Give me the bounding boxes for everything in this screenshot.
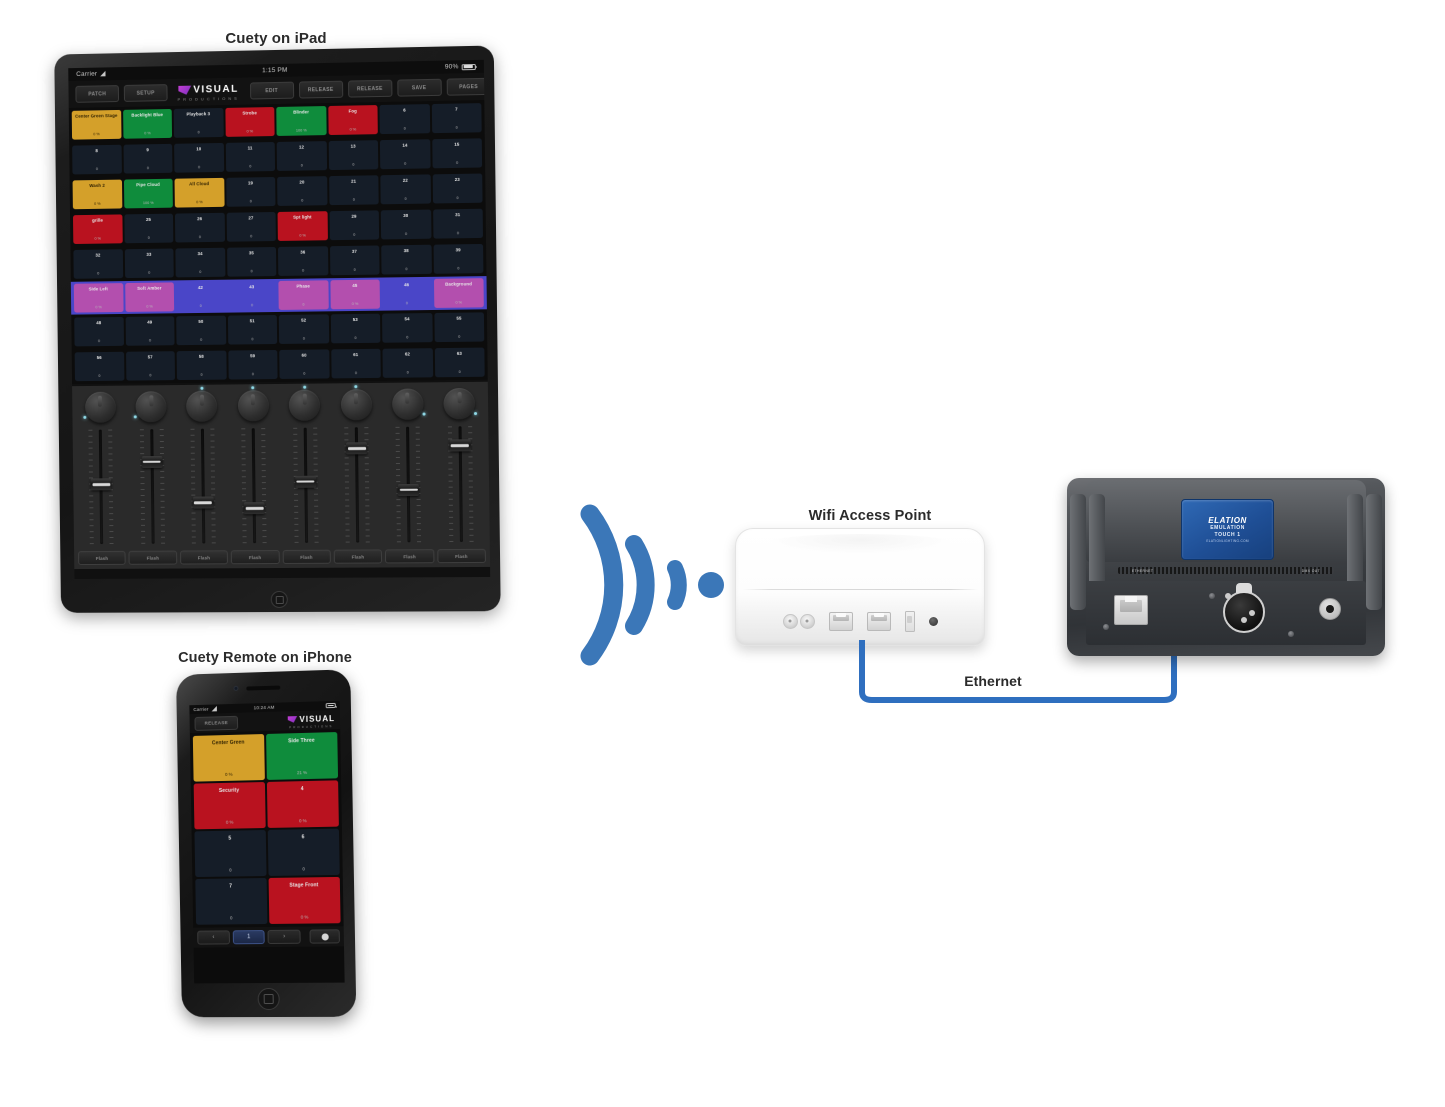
cue-button[interactable]: 290 — [329, 210, 379, 240]
release-button-1[interactable]: RELEASE — [299, 81, 343, 99]
elation-brand-name: ELATION — [1208, 516, 1247, 525]
cue-button[interactable]: 520 — [279, 314, 329, 344]
cue-button[interactable]: 250 — [124, 214, 173, 244]
cue-value: 0 — [353, 234, 355, 238]
cue-label: 63 — [435, 351, 483, 357]
next-page-button[interactable]: › — [268, 930, 301, 944]
cue-button[interactable]: 580 — [177, 351, 227, 380]
cue-label: 13 — [329, 143, 377, 149]
wifi-signal-icon — [572, 500, 732, 670]
cue-button[interactable]: 190 — [226, 177, 276, 207]
cue-button[interactable]: 500 — [176, 316, 226, 346]
cue-label: Playback 3 — [175, 111, 222, 117]
elation-model-number: 1 — [1237, 532, 1240, 538]
cue-label: 58 — [178, 354, 225, 360]
cue-label: 6 — [381, 107, 429, 113]
cue-value: 0 — [250, 201, 252, 205]
fader-channel: Flash — [127, 391, 177, 565]
iphone-clock: 10:24 AM — [240, 704, 288, 710]
cue-button[interactable]: Pipe Cloud100 % — [123, 179, 172, 209]
cue-label: 14 — [381, 142, 429, 148]
fader-handle[interactable] — [193, 497, 214, 509]
cue-label: 48 — [75, 320, 122, 326]
cue-label: 52 — [280, 317, 328, 323]
ipad-battery-percent: 90% — [445, 63, 459, 70]
ipad-caption: Cuety on iPad — [56, 30, 496, 47]
release-button[interactable]: RELEASE — [194, 715, 238, 730]
cue-button[interactable]: 200 — [277, 176, 327, 206]
channel-fader[interactable] — [137, 427, 166, 546]
cue-button[interactable]: 70 — [431, 103, 481, 133]
cue-button[interactable]: 460 — [382, 279, 432, 309]
cue-button[interactable]: 120 — [277, 141, 327, 171]
cue-label: 49 — [126, 319, 173, 325]
cue-label: 15 — [433, 141, 481, 147]
cue-value: 0 % — [352, 303, 359, 307]
channel-fader[interactable] — [240, 426, 269, 545]
usb-port[interactable] — [905, 611, 915, 632]
fader-scale — [190, 429, 215, 544]
cue-label: 9 — [124, 147, 171, 153]
cue-button[interactable]: 540 — [382, 313, 432, 343]
cue-button[interactable]: Background0 % — [433, 278, 483, 308]
cue-label: Blinder — [277, 109, 325, 115]
cue-button[interactable]: Phase0 — [278, 280, 328, 310]
cue-label: 32 — [74, 252, 121, 258]
cue-button[interactable]: 260 — [175, 213, 225, 243]
setup-button[interactable]: SETUP — [124, 84, 168, 102]
fader-channel: Flash — [332, 389, 383, 564]
cue-button[interactable]: 300 — [381, 210, 431, 240]
cue-button[interactable]: 360 — [278, 246, 328, 276]
cue-label: 34 — [176, 251, 223, 257]
channel-fader[interactable] — [87, 428, 116, 547]
flash-button[interactable]: Flash — [334, 549, 383, 563]
gear-icon — [321, 933, 328, 940]
cue-label: Phase — [279, 283, 327, 289]
cue-value: 0 — [98, 340, 100, 344]
channel-fader[interactable] — [342, 425, 372, 545]
cue-button[interactable]: 310 — [433, 209, 483, 239]
rotary-knob[interactable] — [289, 390, 320, 421]
rotary-knob[interactable] — [238, 390, 269, 421]
iphone-home-button[interactable] — [257, 988, 279, 1010]
cue-button[interactable]: 130 — [328, 140, 378, 170]
xlr-dmx-output[interactable] — [1223, 591, 1265, 633]
flash-button[interactable]: Flash — [231, 550, 279, 564]
cue-value: 0 % — [196, 201, 203, 205]
cue-label: Center Green Stage — [73, 113, 120, 119]
led-indicator-icon — [474, 412, 477, 415]
cue-label: 55 — [435, 315, 483, 321]
cue-button[interactable]: All Cloud0 % — [175, 178, 225, 208]
iphone-page-nav: ‹ 1 › — [193, 926, 344, 947]
cue-button[interactable]: 330 — [124, 249, 173, 279]
cue-button[interactable]: Soft Amber0 % — [125, 282, 174, 312]
cue-button[interactable]: Center Green Stage0 % — [72, 110, 121, 140]
cue-value: 0 — [404, 198, 406, 202]
battery-icon — [326, 703, 336, 708]
power-icon — [783, 614, 815, 629]
channel-fader[interactable] — [446, 424, 476, 544]
cue-value: 0 — [457, 268, 459, 272]
cue-grid: Center Green Stage0 %Backlight Blue0 %Pl… — [69, 100, 488, 384]
cue-row: 560570580590600610620630 — [72, 345, 488, 385]
cue-label: 5 — [197, 835, 264, 842]
flash-button[interactable]: Flash — [437, 549, 486, 563]
led-indicator-icon — [354, 385, 357, 388]
fader-handle[interactable] — [295, 475, 316, 487]
settings-button[interactable] — [310, 929, 340, 943]
cue-value: 0 % — [299, 235, 306, 239]
iphone-caption: Cuety Remote on iPhone — [150, 650, 380, 666]
cue-button[interactable]: 230 — [432, 174, 482, 204]
cue-button[interactable]: Side Three21 % — [266, 732, 338, 780]
cue-value: 0 — [149, 340, 151, 344]
cue-button[interactable]: 320 — [73, 249, 122, 279]
cue-value: 0 — [200, 339, 202, 343]
fader-handle[interactable] — [346, 442, 367, 454]
cue-button[interactable]: 350 — [227, 247, 277, 277]
cue-button[interactable]: 370 — [330, 245, 380, 275]
cue-value: 0 — [456, 127, 458, 131]
cue-value: 0 — [354, 337, 356, 341]
cue-label: 12 — [278, 144, 326, 150]
cue-button[interactable]: grille0 % — [73, 214, 122, 244]
cue-label: 11 — [226, 145, 273, 151]
cue-label: 54 — [383, 316, 431, 322]
cue-label: Wash 2 — [74, 183, 121, 189]
cue-label: 61 — [332, 352, 380, 358]
cue-button[interactable]: 50 — [194, 830, 266, 877]
elation-rear-panel — [1086, 581, 1366, 645]
cue-value: 0 — [200, 305, 202, 309]
cue-value: 0 % — [144, 132, 151, 136]
visual-productions-logo: VISUAL PRODUCTIONS — [177, 84, 239, 102]
cue-button[interactable]: 390 — [433, 244, 483, 274]
cue-label: 7 — [432, 106, 480, 112]
cue-value: 0 — [303, 373, 305, 377]
cue-label: Background — [435, 281, 483, 287]
ipad-home-button[interactable] — [271, 591, 288, 608]
cue-button[interactable]: Fog0 % — [328, 105, 378, 135]
cue-value: 0 — [197, 132, 199, 136]
cue-value: 0 % — [301, 915, 309, 920]
edit-button[interactable]: EDIT — [250, 82, 294, 100]
panel-screw — [1103, 624, 1109, 630]
cue-label: 31 — [434, 212, 482, 218]
cue-value: 0 % — [95, 306, 102, 310]
cue-row: 480490500510520530540550 — [71, 309, 487, 349]
cue-button[interactable]: 210 — [329, 175, 379, 205]
ipad-clock: 1:15 PM — [208, 66, 341, 76]
cue-value: 0 — [456, 197, 458, 201]
elation-website: ELATIONLIGHTING.COM — [1206, 539, 1248, 543]
cue-button[interactable]: 530 — [330, 314, 380, 344]
cue-value: 0 — [354, 269, 356, 273]
cue-label: Security — [196, 787, 263, 795]
cue-button[interactable]: 630 — [434, 348, 484, 378]
fader-handle[interactable] — [244, 502, 265, 514]
cue-button[interactable]: 270 — [226, 212, 276, 242]
battery-icon — [462, 63, 476, 69]
flash-button[interactable]: Flash — [282, 550, 331, 564]
cue-value: 0 — [404, 163, 406, 167]
flash-button[interactable]: Flash — [129, 551, 177, 565]
cue-button[interactable]: 590 — [228, 350, 278, 380]
rotary-knob[interactable] — [444, 388, 476, 419]
dc-power-jack[interactable] — [1319, 598, 1341, 620]
cue-label: 59 — [229, 353, 276, 359]
cue-value: 0 % — [350, 129, 357, 133]
wifi-access-point-device — [735, 528, 985, 646]
cue-value: 0 % — [225, 772, 233, 777]
iphone-screen[interactable]: Carrier ◢ 10:24 AM RELEASE VISUAL PRODUC… — [189, 701, 344, 984]
visual-productions-logo: VISUAL PRODUCTIONS — [287, 713, 335, 728]
cue-label: 29 — [330, 213, 378, 219]
rotary-knob[interactable] — [186, 391, 217, 422]
cue-label: 8 — [73, 148, 120, 154]
current-page-indicator[interactable]: 1 — [232, 930, 265, 944]
cue-button[interactable]: 420 — [176, 282, 226, 312]
flash-button[interactable]: Flash — [385, 549, 434, 563]
cue-button[interactable]: 340 — [175, 248, 225, 278]
brand-mark-icon — [178, 86, 191, 95]
cue-label: 23 — [433, 177, 481, 183]
cue-button[interactable]: 450 % — [330, 280, 380, 310]
cue-label: Pipe Cloud — [124, 182, 171, 188]
cue-button[interactable]: 430 — [227, 281, 277, 311]
wifi-icon: ◢ — [100, 70, 106, 77]
cue-label: Side Three — [268, 737, 336, 745]
cue-label: 33 — [125, 252, 172, 258]
cue-label: 53 — [331, 317, 379, 323]
elation-model-line2: TOUCH 1 — [1215, 533, 1241, 539]
cue-label: 4 — [268, 785, 336, 793]
cue-value: 0 — [251, 305, 253, 309]
cue-button[interactable]: Side Left0 % — [74, 283, 123, 312]
cue-label: 7 — [197, 883, 264, 890]
cue-label: 25 — [125, 217, 172, 223]
fader-scale — [242, 428, 267, 543]
rotary-knob[interactable] — [340, 389, 371, 420]
cue-button[interactable]: Backlight Blue0 % — [123, 109, 172, 139]
cue-label: Strobe — [226, 110, 273, 116]
cue-label: 57 — [127, 354, 174, 360]
cue-button[interactable]: 220 — [380, 174, 430, 204]
flash-button[interactable]: Flash — [180, 550, 228, 564]
fader-channel: Flash — [435, 388, 486, 563]
cue-value: 0 — [456, 162, 458, 166]
cue-button[interactable]: 550 — [434, 312, 484, 342]
prev-page-button[interactable]: ‹ — [197, 930, 229, 944]
cue-button[interactable]: 110 — [225, 142, 275, 172]
cue-value: 0 — [404, 128, 406, 132]
cue-label: 56 — [76, 355, 123, 361]
cue-value: 0 — [355, 372, 357, 376]
cue-value: 0 — [459, 371, 461, 375]
cue-value: 0 — [230, 916, 233, 920]
rotary-knob[interactable] — [136, 391, 167, 422]
ethernet-port-legend: ETHERNET — [1132, 569, 1153, 573]
iphone-carrier-label: Carrier — [193, 707, 208, 712]
fader-handle[interactable] — [398, 484, 419, 496]
cue-button[interactable]: 70 — [195, 878, 267, 925]
cue-value: 0 % — [247, 131, 254, 135]
cue-button[interactable]: 140 — [380, 139, 430, 169]
cue-button[interactable]: 490 — [125, 316, 174, 345]
pages-button[interactable]: PAGES — [446, 78, 490, 96]
iphone-cue-grid: Center Green0 %Side Three21 %Security0 %… — [190, 729, 344, 928]
cue-value: 0 % — [146, 306, 153, 310]
cue-value: 100 % — [143, 202, 154, 206]
cue-value: 0 — [406, 337, 408, 341]
cue-value: 0 — [251, 338, 253, 342]
cue-value: 0 — [98, 375, 100, 379]
cue-button[interactable]: 40 % — [266, 780, 338, 828]
fader-channel: Flash — [383, 388, 434, 563]
dmx-out-legend: DMX OUT — [1302, 569, 1320, 573]
brand-subtitle: PRODUCTIONS — [289, 724, 333, 729]
elation-model-text: TOUCH — [1215, 532, 1236, 538]
cue-value: 0 — [352, 164, 354, 168]
iphone-earpiece-speaker — [246, 686, 280, 691]
access-point-caption: Wifi Access Point — [745, 508, 995, 524]
cue-value: 0 % — [299, 819, 307, 824]
cue-label: 35 — [228, 250, 275, 256]
ipad-screen[interactable]: Carrier ◢ 1:15 PM 90% PATCH SETUP VISUAL — [68, 60, 490, 579]
cue-value: 0 — [149, 375, 151, 379]
fader-handle[interactable] — [91, 479, 112, 491]
cue-button[interactable]: 60 — [379, 104, 429, 134]
cue-value: 0 — [199, 236, 201, 240]
cue-label: grille — [74, 217, 121, 223]
ipad-device: Carrier ◢ 1:15 PM 90% PATCH SETUP VISUAL — [54, 45, 500, 612]
cue-value: 0 % — [94, 203, 101, 207]
cue-button[interactable]: Spt light0 % — [278, 211, 328, 241]
cue-button[interactable]: 570 — [126, 351, 175, 380]
led-indicator-icon — [422, 413, 425, 416]
xlr-latch-icon — [1236, 583, 1252, 593]
cue-value: 0 — [199, 271, 201, 275]
cue-value: 0 — [407, 372, 409, 376]
cue-label: 6 — [269, 834, 337, 841]
cue-value: 0 — [249, 166, 251, 170]
cue-button[interactable]: 100 — [174, 143, 224, 173]
cue-label: 20 — [278, 179, 326, 185]
rotary-knob[interactable] — [392, 388, 424, 419]
reset-button[interactable] — [929, 617, 938, 626]
cue-button[interactable]: Center Green0 % — [193, 734, 265, 782]
elation-port-legend: ETHERNET DMX OUT — [1118, 567, 1334, 574]
iphone-front-camera — [233, 686, 238, 691]
channel-fader[interactable] — [188, 427, 217, 546]
cue-value: 0 — [97, 273, 99, 277]
ipad-carrier-label: Carrier — [76, 71, 97, 78]
panel-screw — [1209, 593, 1215, 599]
elation-brand-label: ELATION EMULATION TOUCH 1 ELATIONLIGHTIN… — [1181, 499, 1273, 560]
cue-value: 0 — [302, 304, 304, 308]
cue-label: 36 — [279, 249, 327, 255]
cue-value: 0 — [405, 268, 407, 272]
cue-value: 0 — [147, 167, 149, 171]
fader-scale — [139, 429, 164, 544]
cue-value: 0 — [302, 270, 304, 274]
cue-label: Fog — [329, 108, 377, 114]
cue-label: 45 — [331, 283, 379, 289]
cue-value: 0 — [252, 373, 254, 377]
save-button[interactable]: SAVE — [397, 79, 442, 97]
ethernet-rj45-port[interactable] — [1114, 595, 1148, 625]
cue-button[interactable]: Security0 % — [194, 782, 266, 829]
cue-label: 50 — [177, 319, 224, 325]
cue-button[interactable]: 90 — [123, 144, 172, 174]
led-indicator-icon — [252, 386, 255, 389]
rotary-knob[interactable] — [85, 392, 116, 423]
cue-button[interactable]: 620 — [382, 348, 432, 378]
channel-fader[interactable] — [394, 425, 424, 545]
cue-value: 0 % — [94, 238, 101, 242]
cue-label: Stage Front — [270, 882, 338, 889]
iphone-device: Carrier ◢ 10:24 AM RELEASE VISUAL PRODUC… — [176, 669, 356, 1017]
led-indicator-icon — [303, 386, 306, 389]
cue-button[interactable]: 600 — [279, 349, 329, 379]
cue-label: Backlight Blue — [124, 112, 171, 118]
fader-handle[interactable] — [449, 439, 470, 451]
cue-button[interactable]: 560 — [75, 352, 124, 381]
cue-button[interactable]: Stage Front0 % — [268, 877, 341, 924]
ethernet-lan-port[interactable] — [867, 612, 891, 631]
cue-label: 30 — [382, 213, 430, 219]
brand-name: VISUAL — [299, 713, 335, 723]
cue-label: 22 — [381, 177, 429, 183]
fader-handle[interactable] — [141, 456, 162, 468]
cue-value: 0 — [301, 165, 303, 169]
cue-value: 0 — [303, 338, 305, 342]
cue-value: 0 % — [226, 820, 234, 825]
cue-label: 19 — [227, 180, 274, 186]
cue-value: 0 — [301, 200, 303, 204]
cue-value: 0 — [406, 302, 408, 306]
cue-button[interactable]: 510 — [227, 315, 277, 345]
ethernet-wan-port[interactable] — [829, 612, 853, 631]
cue-button[interactable]: 610 — [331, 349, 381, 379]
panel-screw — [1288, 631, 1294, 637]
channel-fader[interactable] — [291, 426, 320, 545]
cue-value: 0 — [457, 232, 459, 236]
cue-button[interactable]: 480 — [74, 317, 123, 346]
cue-button[interactable]: Playback 30 — [174, 108, 224, 138]
release-button-2[interactable]: RELEASE — [348, 80, 392, 98]
fader-channel: Flash — [280, 389, 331, 564]
cue-button[interactable]: 150 — [432, 138, 482, 168]
cue-button[interactable]: 60 — [267, 829, 339, 876]
cue-button[interactable]: Wash 20 % — [73, 180, 122, 210]
cue-label: 43 — [228, 284, 275, 290]
cue-row-highlighted: Side Left0 %Soft Amber0 %420430Phase0450… — [71, 276, 487, 315]
cue-label: 10 — [175, 146, 222, 152]
cue-button[interactable]: Strobe0 % — [225, 107, 275, 137]
cue-value: 0 — [250, 271, 252, 275]
cue-button[interactable]: 80 — [72, 145, 121, 175]
patch-button[interactable]: PATCH — [75, 85, 119, 103]
cue-value: 0 % — [455, 302, 462, 306]
cue-button[interactable]: 380 — [381, 245, 431, 275]
cue-label: 62 — [384, 351, 432, 357]
cue-value: 0 — [353, 199, 355, 203]
flash-button[interactable]: Flash — [78, 551, 126, 565]
cue-button[interactable]: Blinder100 % — [276, 106, 326, 136]
